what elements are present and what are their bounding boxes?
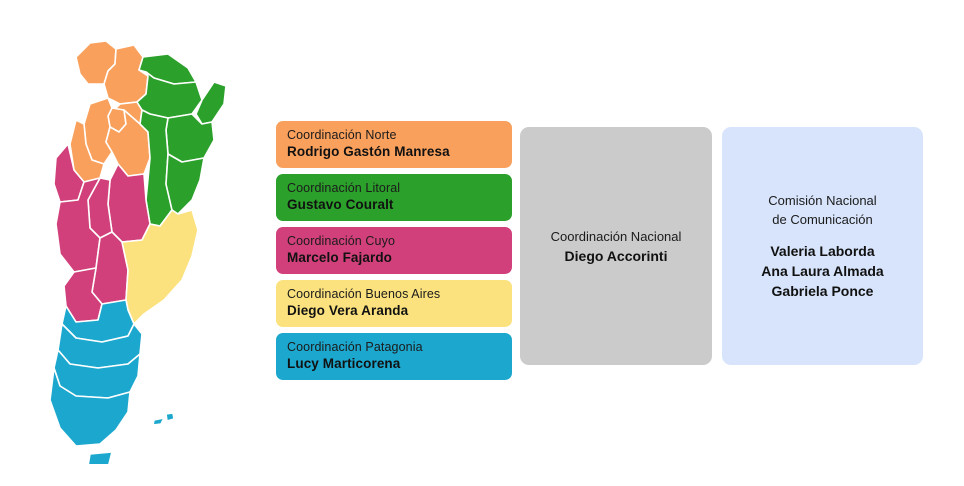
region-person-buenos-aires: Diego Vera Aranda bbox=[287, 302, 512, 319]
region-role-litoral: Coordinación Litoral bbox=[287, 180, 512, 196]
map-province-cordoba bbox=[108, 164, 150, 242]
argentina-map-svg bbox=[16, 24, 256, 464]
map-province-entre-rios bbox=[166, 154, 204, 214]
commission-member: Ana Laura Almada bbox=[761, 261, 883, 281]
commission-member: Gabriela Ponce bbox=[761, 281, 883, 301]
region-role-norte: Coordinación Norte bbox=[287, 127, 512, 143]
region-card-cuyo[interactable]: Coordinación Cuyo Marcelo Fajardo bbox=[276, 227, 512, 274]
national-coordination-role: Coordinación Nacional bbox=[551, 227, 682, 246]
map-islands-malvinas-east bbox=[166, 413, 174, 421]
argentina-regions-map bbox=[16, 24, 256, 464]
commission-member-list: Valeria Laborda Ana Laura Almada Gabriel… bbox=[761, 241, 883, 301]
region-person-norte: Rodrigo Gastón Manresa bbox=[287, 143, 512, 160]
map-islands-malvinas bbox=[153, 418, 164, 425]
commission-role-line2: de Comunicación bbox=[772, 210, 872, 229]
region-person-patagonia: Lucy Marticorena bbox=[287, 355, 512, 372]
region-card-patagonia[interactable]: Coordinación Patagonia Lucy Marticorena bbox=[276, 333, 512, 380]
region-person-cuyo: Marcelo Fajardo bbox=[287, 249, 512, 266]
organization-chart: Coordinación Norte Rodrigo Gastón Manres… bbox=[0, 0, 964, 486]
region-person-litoral: Gustavo Couralt bbox=[287, 196, 512, 213]
region-role-patagonia: Coordinación Patagonia bbox=[287, 339, 512, 355]
region-card-buenos-aires[interactable]: Coordinación Buenos Aires Diego Vera Ara… bbox=[276, 280, 512, 327]
region-role-cuyo: Coordinación Cuyo bbox=[287, 233, 512, 249]
region-card-norte[interactable]: Coordinación Norte Rodrigo Gastón Manres… bbox=[276, 121, 512, 168]
communication-commission-panel[interactable]: Comisión Nacional de Comunicación Valeri… bbox=[722, 127, 923, 365]
commission-member: Valeria Laborda bbox=[761, 241, 883, 261]
region-card-litoral[interactable]: Coordinación Litoral Gustavo Couralt bbox=[276, 174, 512, 221]
commission-role-line1: Comisión Nacional bbox=[768, 191, 876, 210]
region-role-buenos-aires: Coordinación Buenos Aires bbox=[287, 286, 512, 302]
map-province-misiones bbox=[196, 82, 226, 124]
map-province-tierra-del-fuego bbox=[88, 452, 112, 464]
region-coordination-list: Coordinación Norte Rodrigo Gastón Manres… bbox=[276, 121, 512, 380]
national-coordination-person: Diego Accorinti bbox=[565, 246, 668, 266]
national-coordination-panel[interactable]: Coordinación Nacional Diego Accorinti bbox=[520, 127, 712, 365]
